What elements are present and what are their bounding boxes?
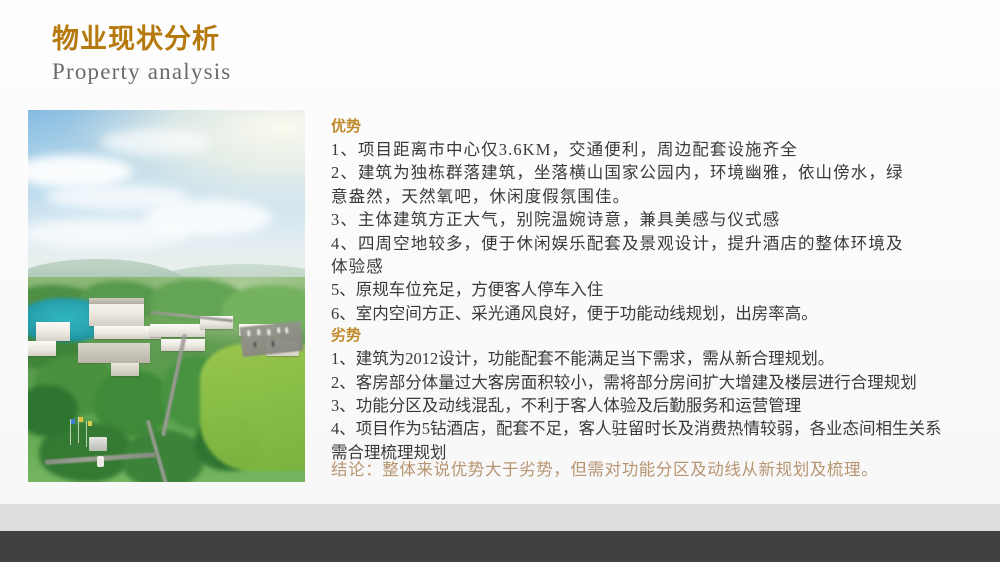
parked-car — [254, 342, 258, 348]
pavilion — [111, 363, 139, 376]
parked-car — [248, 330, 252, 336]
disadvantages-heading: 劣势 — [331, 325, 979, 347]
aerial-resort-photo — [28, 110, 305, 482]
disadvantages-line: 3、功能分区及动线混乱，不利于客人体验及后勤服务和运营管理 — [331, 394, 979, 417]
shuttle-vehicle — [97, 456, 104, 467]
conclusion-text: 结论：整体来说优势大于劣势，但需对功能分区及动线从新规划及梳理。 — [331, 458, 979, 482]
disadvantages-line: 2、客房部分体量过大客房面积较小，需将部分房间扩大增建及楼层进行合理规划 — [331, 371, 979, 394]
advantages-heading: 优势 — [331, 116, 979, 138]
villa-building — [28, 341, 56, 357]
building-roof — [89, 298, 144, 304]
disadvantages-line: 1、建筑为2012设计，功能配套不能满足当下需求，需从新合理规划。 — [331, 347, 979, 370]
advantages-line: 6、室内空间方正、采光通风良好，便于功能动线规划，出房率高。 — [331, 302, 979, 325]
advantages-line: 3、主体建筑方正大气，别院温婉诗意，兼具美感与仪式感 — [331, 208, 979, 231]
slide-header: 物业现状分析 Property analysis — [52, 22, 652, 86]
analysis-text-column: 优势 1、项目距离市中心仅3.6KM，交通便利，周边配套设施齐全 2、建筑为独栋… — [331, 116, 979, 464]
parked-car — [272, 341, 276, 347]
flag — [88, 421, 92, 426]
disadvantages-block: 劣势 1、建筑为2012设计，功能配套不能满足当下需求，需从新合理规划。 2、客… — [331, 325, 979, 464]
advantages-line: 体验感 — [331, 255, 979, 278]
lawn-area — [200, 344, 305, 470]
guard-booth — [89, 437, 107, 451]
villa-roof-block — [78, 343, 150, 363]
footer-light-band — [0, 504, 1000, 531]
advantages-block: 优势 1、项目距离市中心仅3.6KM，交通便利，周边配套设施齐全 2、建筑为独栋… — [331, 116, 979, 325]
advantages-line: 1、项目距离市中心仅3.6KM，交通便利，周边配套设施齐全 — [331, 138, 979, 161]
advantages-line: 4、四周空地较多，便于休闲娱乐配套及景观设计，提升酒店的整体环境及 — [331, 232, 979, 255]
parked-car — [267, 329, 271, 335]
villa-building — [36, 322, 69, 341]
parked-car — [257, 329, 261, 335]
parking-lot — [240, 321, 304, 357]
page-title: 物业现状分析 — [52, 22, 652, 56]
cloud-shape — [100, 129, 211, 155]
advantages-line: 2、建筑为独栋群落建筑，坐落横山国家公园内，环境幽雅，依山傍水，绿 — [331, 161, 979, 184]
advantages-line: 5、原规车位充足，方便客人停车入住 — [331, 278, 979, 301]
page-subtitle: Property analysis — [52, 57, 652, 86]
parked-car — [285, 327, 289, 333]
footer-dark-band — [0, 531, 1000, 562]
flag — [71, 419, 75, 424]
advantages-line: 意盎然，天然氧吧，休闲度假氛围佳。 — [331, 185, 979, 208]
flag — [79, 417, 83, 422]
slide-canvas: 物业现状分析 Property analysis — [0, 0, 1000, 562]
disadvantages-line: 4、项目作为5钻酒店，配套不足，客人驻留时长及消费热情较弱，各业态间相生关系 — [331, 417, 979, 440]
villa-row — [150, 324, 205, 337]
parked-car — [277, 327, 281, 333]
